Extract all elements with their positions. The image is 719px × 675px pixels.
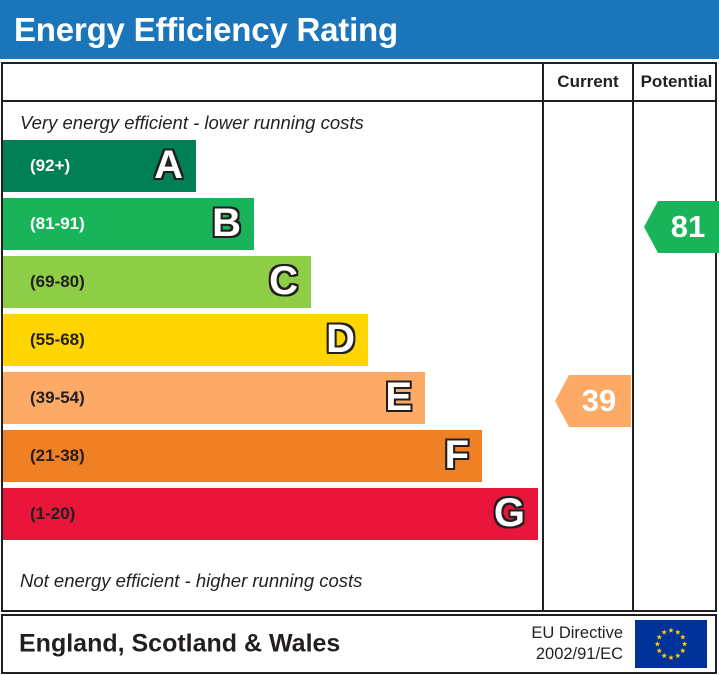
rating-band-d: (55-68)D: [3, 314, 368, 366]
band-range-c: (69-80): [30, 272, 85, 292]
current-column-divider: [542, 64, 544, 610]
potential-rating-value: 81: [671, 209, 705, 244]
rating-band-e: (39-54)E: [3, 372, 425, 424]
epc-certificate-graphic: Energy Efficiency Rating Current Potenti…: [0, 0, 719, 675]
potential-rating-marker: 81: [644, 201, 719, 253]
band-range-f: (21-38): [30, 446, 85, 466]
caption-efficient: Very energy efficient - lower running co…: [20, 112, 364, 134]
rating-band-g: (1-20)G: [3, 488, 538, 540]
band-letter-b: B: [212, 203, 241, 243]
eu-directive-line2: 2002/91/EC: [531, 644, 623, 665]
band-range-e: (39-54): [30, 388, 85, 408]
rating-band-c: (69-80)C: [3, 256, 311, 308]
caption-inefficient: Not energy efficient - higher running co…: [20, 570, 362, 592]
eu-flag-icon: [635, 620, 707, 668]
region-label: England, Scotland & Wales: [19, 630, 340, 659]
band-letter-d: D: [326, 319, 355, 359]
band-letter-a: A: [154, 145, 183, 185]
current-rating-marker: 39: [555, 375, 631, 427]
eu-directive-line1: EU Directive: [531, 623, 623, 644]
band-range-d: (55-68): [30, 330, 85, 350]
title-banner: Energy Efficiency Rating: [0, 0, 719, 59]
rating-band-f: (21-38)F: [3, 430, 482, 482]
band-range-a: (92+): [30, 156, 70, 176]
rating-table: Current Potential Very energy efficient …: [1, 62, 717, 612]
potential-column-divider: [632, 64, 634, 610]
band-letter-f: F: [445, 435, 469, 475]
column-header-current: Current: [544, 64, 632, 100]
column-header-potential: Potential: [634, 64, 719, 100]
band-range-g: (1-20): [30, 504, 75, 524]
eu-directive-label: EU Directive 2002/91/EC: [531, 623, 623, 665]
footer-bar: England, Scotland & Wales EU Directive 2…: [1, 614, 717, 674]
rating-band-a: (92+)A: [3, 140, 196, 192]
band-letter-c: C: [269, 261, 298, 301]
band-letter-g: G: [494, 493, 525, 533]
band-range-b: (81-91): [30, 214, 85, 234]
current-rating-value: 39: [582, 383, 616, 418]
rating-band-b: (81-91)B: [3, 198, 254, 250]
rating-bands-area: Very energy efficient - lower running co…: [3, 102, 542, 612]
page-title: Energy Efficiency Rating: [14, 11, 398, 49]
band-letter-e: E: [385, 377, 412, 417]
